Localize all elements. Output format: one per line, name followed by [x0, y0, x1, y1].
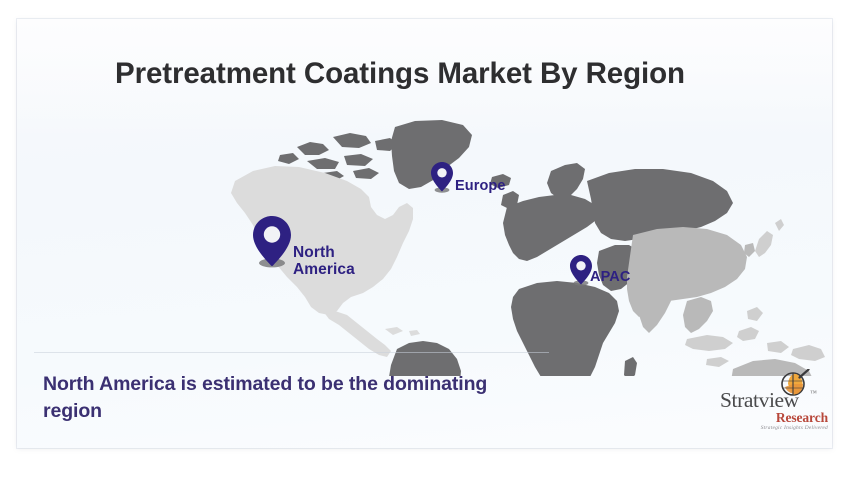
pin-inner-dot	[264, 226, 280, 242]
papua-new-guinea-shape	[791, 345, 825, 361]
japan-shape	[755, 219, 784, 257]
europe-shape	[503, 195, 599, 261]
slide-page: Pretreatment Coatings Market By Region	[0, 0, 867, 486]
central-america-shape	[323, 311, 391, 357]
caribbean-shape	[385, 327, 420, 336]
logo-trademark: ™	[810, 389, 817, 397]
map-pin-north-america[interactable]	[249, 214, 295, 270]
slide-card: Pretreatment Coatings Market By Region	[17, 19, 832, 448]
africa-shape	[511, 281, 619, 376]
logo-tagline: Strategic Insights Delivered	[738, 426, 828, 431]
world-map-container: North America Europe APAC	[17, 111, 832, 381]
pin-inner-dot	[437, 168, 446, 177]
scandinavia-shape	[547, 163, 585, 199]
southeast-asia-shape	[683, 297, 713, 333]
map-label-apac: APAC	[590, 269, 630, 285]
logo-subtitle: Research	[747, 411, 828, 425]
india-shape	[637, 275, 673, 333]
map-label-europe: Europe	[455, 178, 506, 194]
map-label-north-america: North America	[293, 244, 355, 279]
map-pin-europe[interactable]	[429, 161, 455, 194]
logo-wordmark: Stratview	[720, 390, 824, 412]
stratview-logo[interactable]: Stratview ™ Research Strategic Insights …	[720, 369, 828, 439]
pin-inner-dot	[576, 261, 585, 270]
page-title: Pretreatment Coatings Market By Region	[115, 56, 795, 91]
section-divider	[34, 352, 549, 353]
madagascar-shape	[624, 357, 637, 376]
caption-text: North America is estimated to be the dom…	[43, 371, 543, 424]
